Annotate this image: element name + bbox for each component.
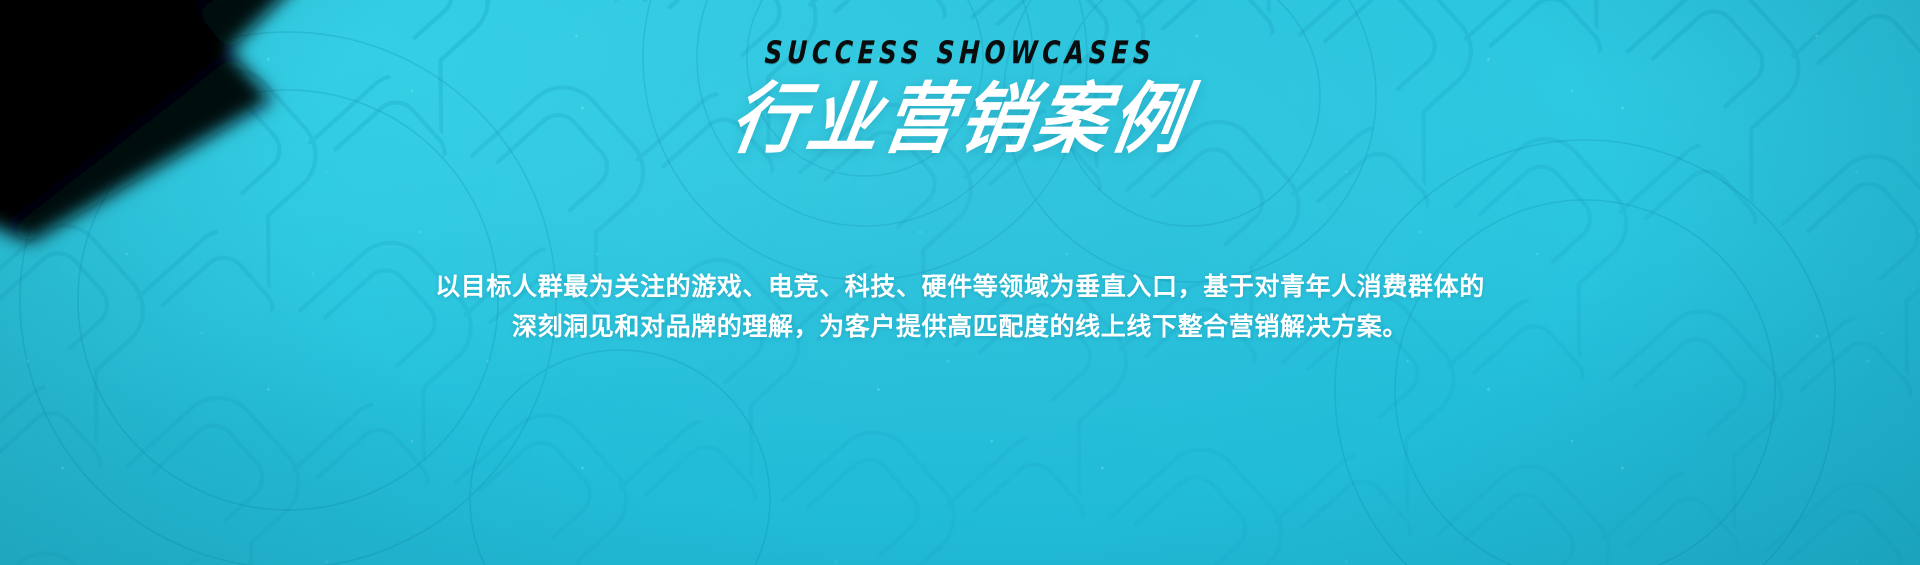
banner-description-line-1: 以目标人群最为关注的游戏、电竞、科技、硬件等领域为垂直入口，基于对青年人消费群体… xyxy=(370,267,1550,307)
success-showcases-banner: SUCCESS SHOWCASES 行业营销案例 以目标人群最为关注的游戏、电竞… xyxy=(0,0,1920,565)
banner-eyebrow: SUCCESS SHOWCASES xyxy=(764,38,1156,69)
banner-description: 以目标人群最为关注的游戏、电竞、科技、硬件等领域为垂直入口，基于对青年人消费群体… xyxy=(370,267,1550,347)
banner-content: SUCCESS SHOWCASES 行业营销案例 以目标人群最为关注的游戏、电竞… xyxy=(0,0,1920,565)
page-title: 行业营销案例 xyxy=(726,80,1194,159)
banner-description-line-2: 深刻洞见和对品牌的理解，为客户提供高匹配度的线上线下整合营销解决方案。 xyxy=(370,307,1550,347)
